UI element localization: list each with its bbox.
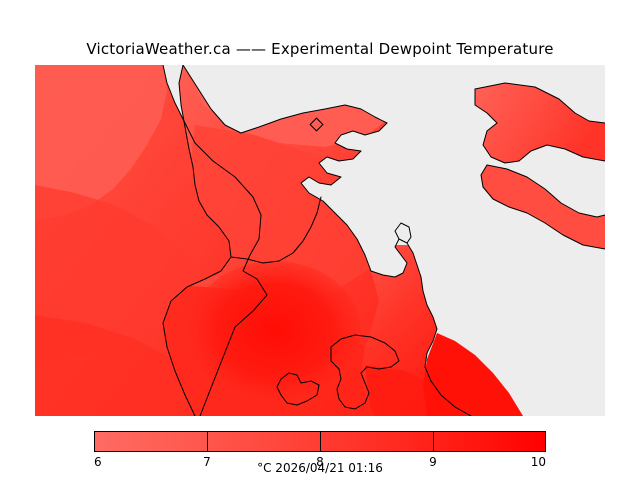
colorbar-label-9: 9 (429, 455, 437, 469)
dewpoint-temperature-field (35, 65, 605, 416)
colorbar-label-6: 6 (94, 455, 102, 469)
colorbar-tick-7 (207, 431, 208, 452)
page-title: VictoriaWeather.ca —— Experimental Dewpo… (0, 40, 640, 58)
colorbar-label-7: 7 (203, 455, 211, 469)
colorbar-label-10: 10 (531, 455, 546, 469)
colorbar-tick-8 (320, 431, 321, 452)
dewpoint-map[interactable] (35, 65, 605, 416)
map-panel[interactable] (35, 65, 605, 416)
colorbar[interactable] (94, 431, 546, 452)
colorbar-label-8: 8 (316, 455, 324, 469)
colorbar-tick-9 (433, 431, 434, 452)
region-southeast (423, 333, 523, 416)
